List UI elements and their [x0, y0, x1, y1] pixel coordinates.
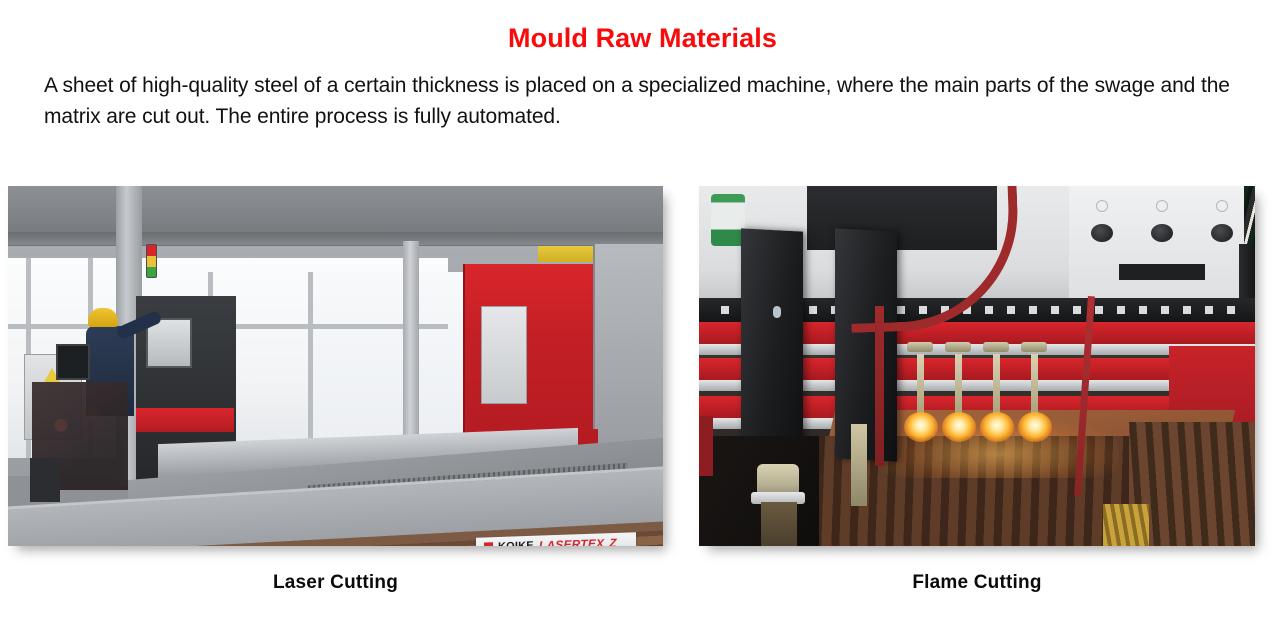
torch-head [907, 342, 933, 352]
brass-fittings [1103, 504, 1149, 546]
panel-handle-icon [773, 306, 781, 318]
gas-hose [875, 306, 884, 466]
body-paragraph: A sheet of high-quality steel of a certa… [0, 54, 1285, 132]
figure-flame-cutting: Flame Cutting [699, 186, 1255, 546]
cabinet-label-plate [1119, 264, 1205, 280]
photo-laser-cutting[interactable]: KOIKE LASERTEX Z [8, 186, 663, 546]
flame-icon [942, 412, 976, 442]
cabinet-knob[interactable] [1151, 224, 1173, 242]
photo-flame-cutting[interactable] [699, 186, 1255, 546]
machine-red-edge [699, 416, 713, 476]
figure-gallery: KOIKE LASERTEX Z Laser Cutting [0, 178, 1285, 598]
cabinet-screw-icon [1216, 200, 1228, 212]
flame-icon [980, 412, 1014, 442]
koike-logo-icon [484, 542, 493, 546]
torch-head [983, 342, 1009, 352]
workshop-monitor [56, 344, 90, 380]
cabinet-knob[interactable] [1211, 224, 1233, 242]
torch-head [945, 342, 971, 352]
caption-laser-cutting: Laser Cutting [8, 572, 663, 594]
figure-laser-cutting: KOIKE LASERTEX Z Laser Cutting [8, 186, 663, 546]
console-red-panel [136, 408, 234, 432]
ceiling-beam [8, 232, 663, 245]
green-sign-icon [711, 194, 745, 246]
flame-icon [1018, 412, 1052, 442]
floor-box [30, 458, 60, 502]
slide-page: Mould Raw Materials A sheet of high-qual… [0, 0, 1285, 619]
flame-icon [904, 412, 938, 442]
brand-name: KOIKE [498, 540, 534, 546]
machine-grey-cabinet [593, 244, 663, 429]
torch-assembly-left [851, 424, 867, 506]
caption-flame-cutting: Flame Cutting [699, 572, 1255, 594]
stack-light-icon [146, 244, 157, 278]
worker-hardhat [88, 308, 118, 327]
window-mullion [308, 272, 313, 448]
cabinet-screw-icon [1096, 200, 1108, 212]
cabinet-knob[interactable] [1091, 224, 1113, 242]
shield-panel-left [741, 228, 803, 461]
torch-head [1021, 342, 1047, 352]
canister-body [761, 502, 797, 546]
page-title: Mould Raw Materials [0, 0, 1285, 54]
brand-series: Z [609, 536, 617, 546]
brand-model: LASERTEX [539, 536, 604, 546]
cabinet-screw-icon [1156, 200, 1168, 212]
